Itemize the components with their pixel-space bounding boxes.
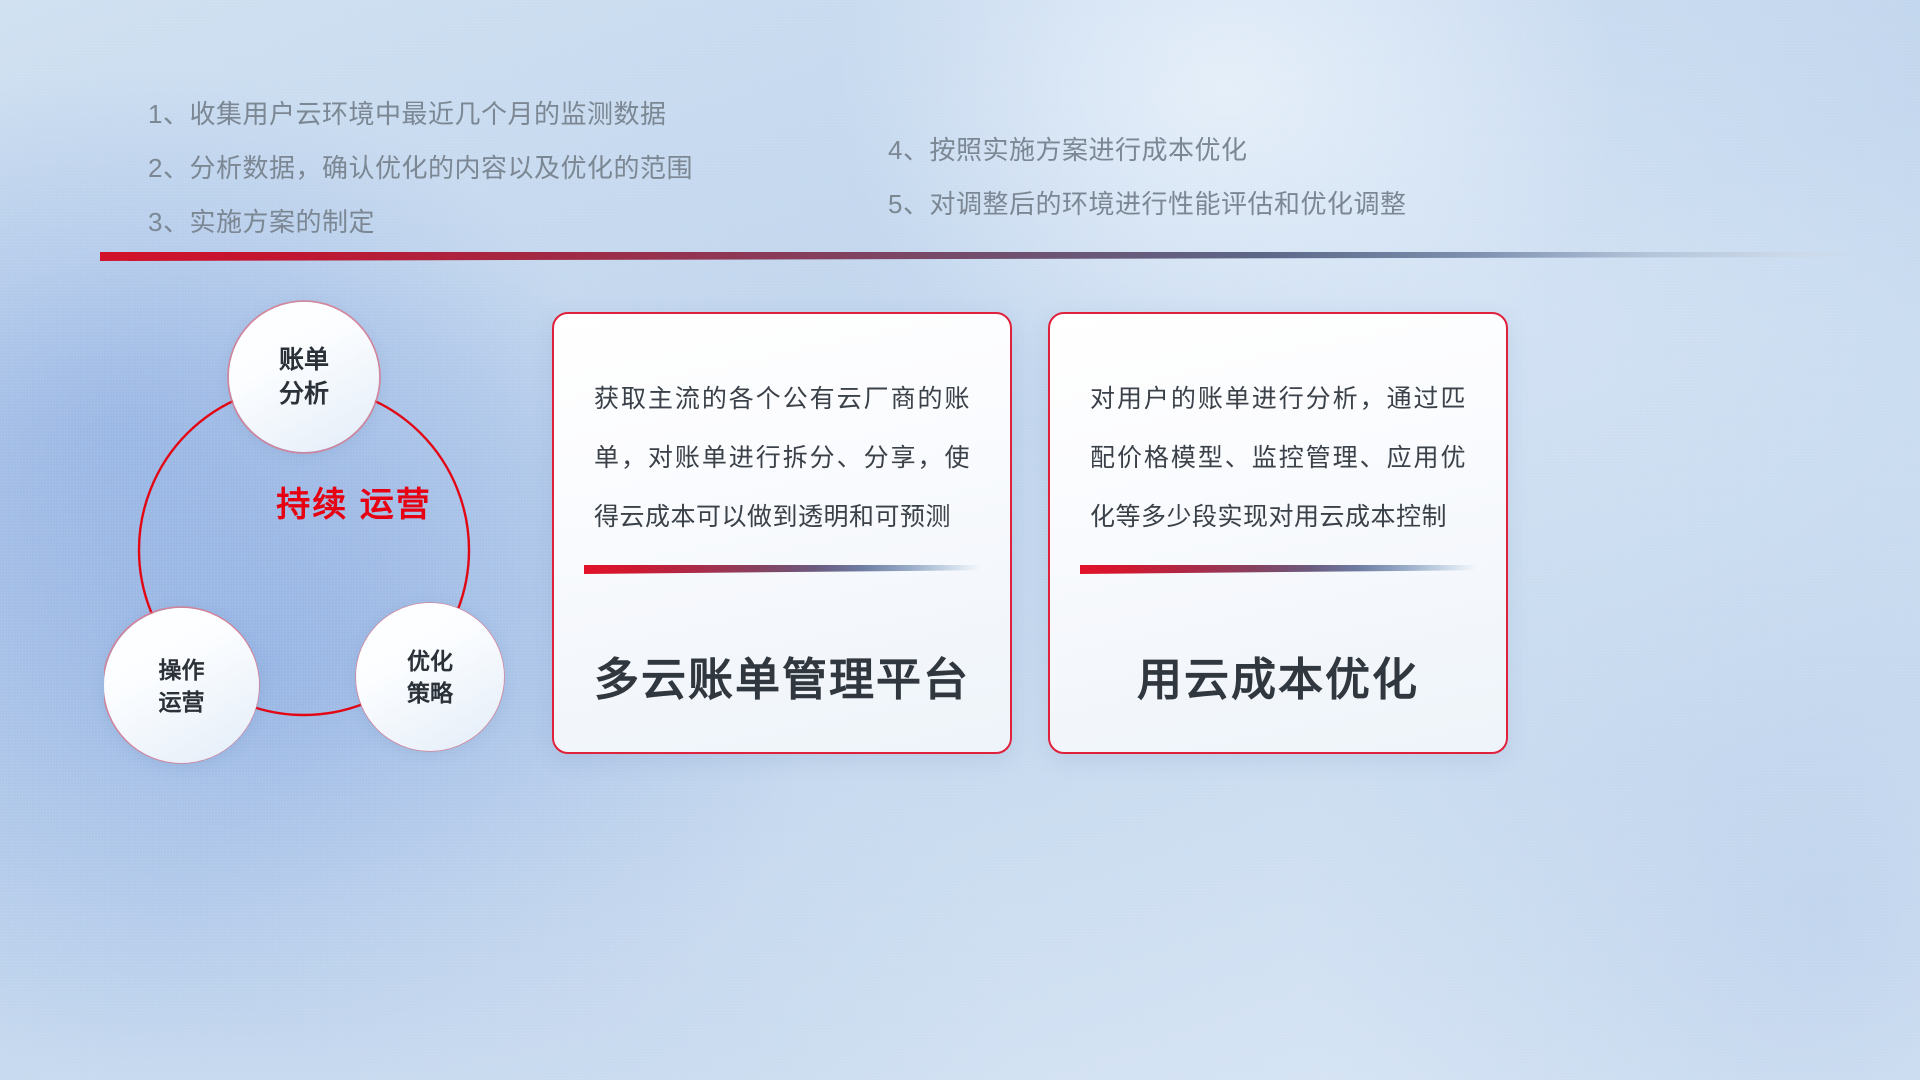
venn-bubble-optimize-strategy-line1: 优化 (407, 645, 453, 677)
venn-bubble-optimize-strategy-line2: 策略 (407, 677, 453, 709)
card-multi-cloud-bill-platform[interactable]: 获取主流的各个公有云厂商的账单，对账单进行拆分、分享，使得云成本可以做到透明和可… (552, 312, 1012, 754)
top-divider-bar (100, 252, 1860, 261)
card-title-2: 用云成本优化 (1050, 643, 1506, 752)
card-body-text-2: 对用户的账单进行分析，通过匹配价格模型、监控管理、应用优化等多少段实现对用云成本… (1050, 314, 1506, 547)
card-divider-1 (584, 565, 980, 574)
step-item-2: 2、分析数据，确认优化的内容以及优化的范围 (148, 150, 848, 186)
venn-center-label: 持续 运营 (254, 482, 454, 528)
slide-canvas: 1、收集用户云环境中最近几个月的监测数据 2、分析数据，确认优化的内容以及优化的… (0, 0, 1920, 1080)
venn-bubble-bill-analysis[interactable]: 账单 分析 (229, 302, 379, 452)
steps-column-right: 4、按照实施方案进行成本优化 5、对调整后的环境进行性能评估和优化调整 (888, 96, 1406, 240)
venn-center-label-line1: 持续 (276, 486, 348, 524)
steps-column-left: 1、收集用户云环境中最近几个月的监测数据 2、分析数据，确认优化的内容以及优化的… (148, 96, 848, 240)
venn-center-label-line2: 运营 (360, 486, 432, 524)
continuous-operation-diagram: 账单 分析 操作 运营 优化 策略 持续 运营 (104, 288, 574, 768)
venn-bubble-operation[interactable]: 操作 运营 (104, 608, 259, 763)
venn-bubble-operation-line2: 运营 (159, 686, 205, 718)
card-body-text-1: 获取主流的各个公有云厂商的账单，对账单进行拆分、分享，使得云成本可以做到透明和可… (554, 314, 1010, 547)
steps-section: 1、收集用户云环境中最近几个月的监测数据 2、分析数据，确认优化的内容以及优化的… (0, 96, 1920, 240)
step-item-3: 3、实施方案的制定 (148, 204, 848, 240)
venn-bubble-bill-analysis-line1: 账单 (279, 343, 329, 377)
card-divider-2 (1080, 565, 1476, 574)
step-item-5: 5、对调整后的环境进行性能评估和优化调整 (888, 186, 1406, 222)
venn-bubble-optimize-strategy[interactable]: 优化 策略 (356, 603, 504, 751)
venn-bubble-operation-line1: 操作 (159, 654, 205, 686)
card-cloud-cost-optimization[interactable]: 对用户的账单进行分析，通过匹配价格模型、监控管理、应用优化等多少段实现对用云成本… (1048, 312, 1508, 754)
step-item-1: 1、收集用户云环境中最近几个月的监测数据 (148, 96, 848, 132)
card-title-1: 多云账单管理平台 (554, 643, 1010, 752)
venn-bubble-bill-analysis-line2: 分析 (279, 377, 329, 411)
step-item-4: 4、按照实施方案进行成本优化 (888, 132, 1406, 168)
